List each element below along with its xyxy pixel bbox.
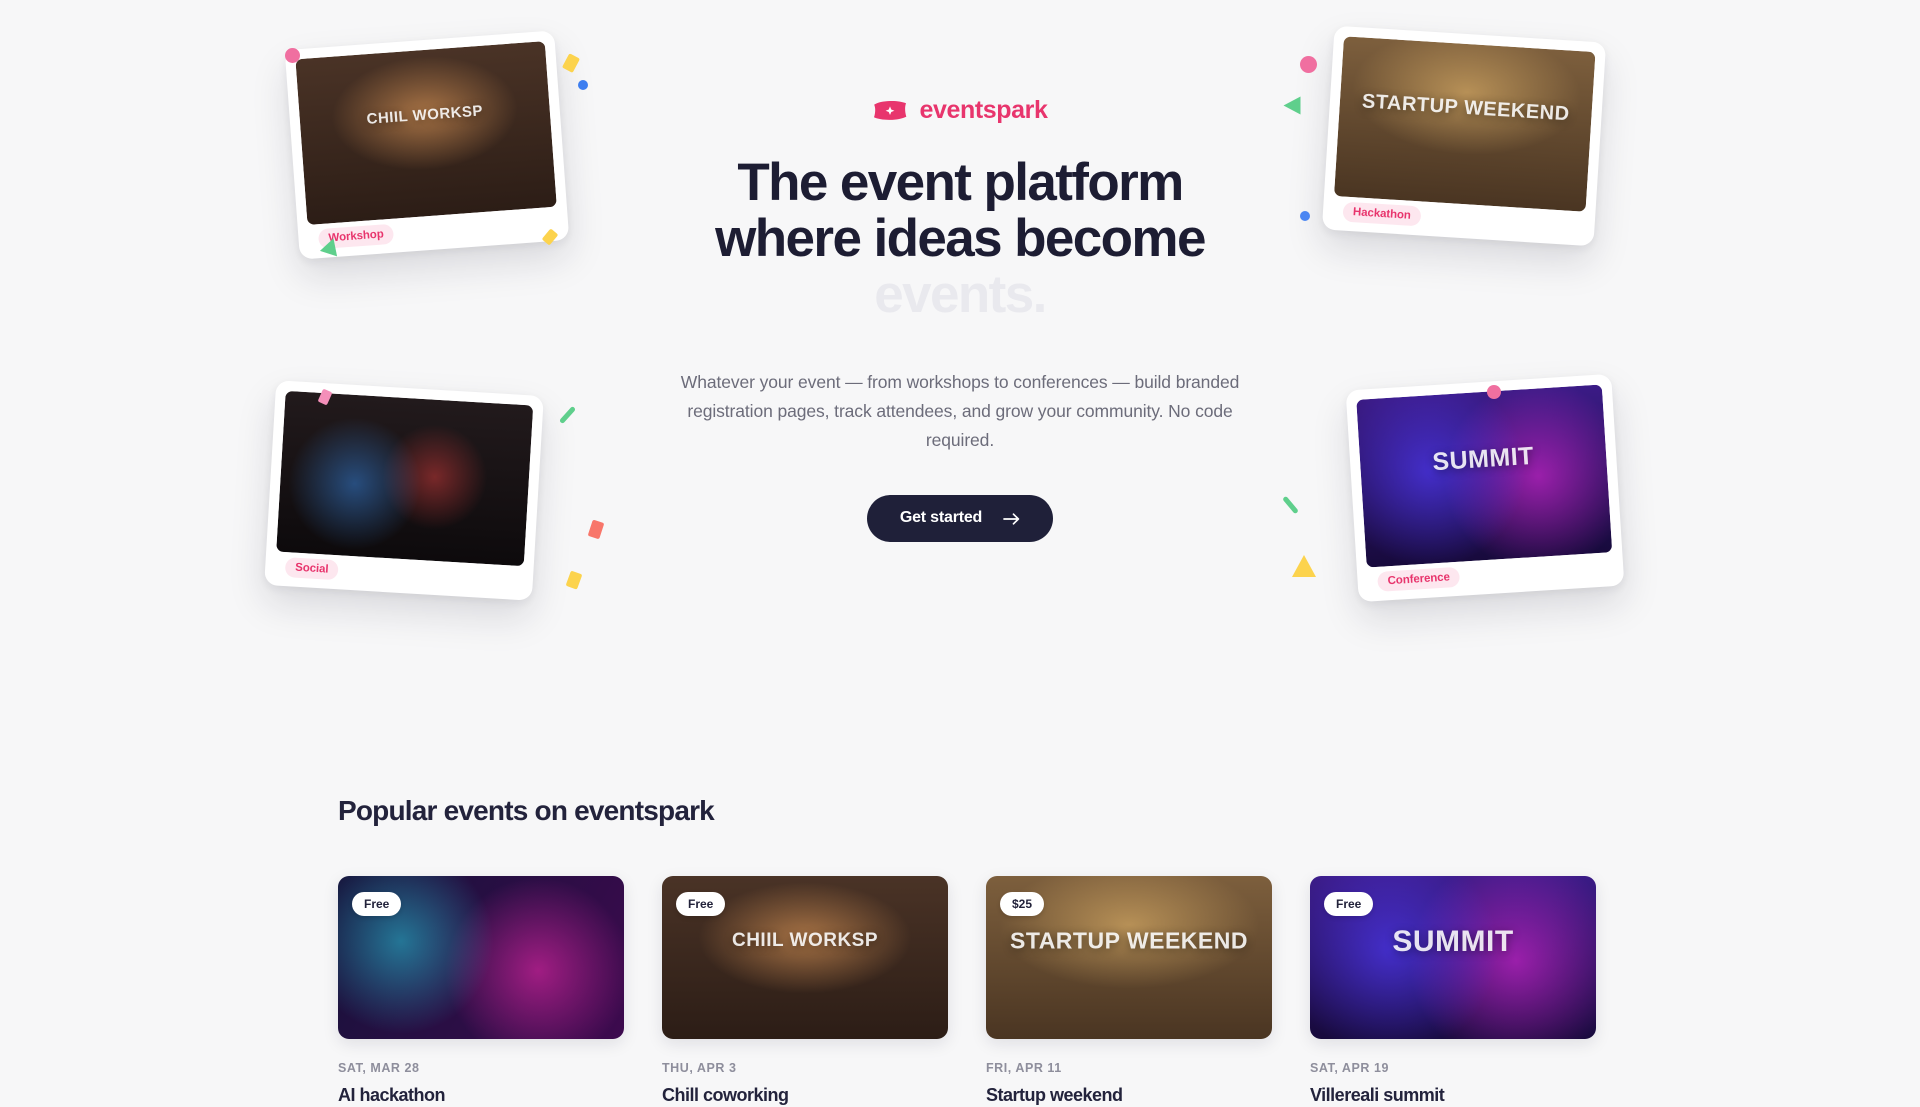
event-title: AI hackathon [338, 1084, 624, 1107]
bar-coral-mid [588, 520, 605, 540]
polaroid-tag-social: Social [285, 557, 339, 580]
popular-events-section: Popular events on eventspark FreeSAT, MA… [0, 745, 1920, 1107]
brand-name: eventspark [919, 96, 1047, 125]
arrow-right-icon [1003, 512, 1020, 524]
dot-pink-conf [1487, 385, 1501, 399]
dot-blue-left [578, 80, 588, 90]
polaroid-tag-hackathon: Hackathon [1342, 202, 1421, 227]
event-card[interactable]: FreeSAT, MAR 28AI hackathon [338, 876, 624, 1107]
polaroid-photo [276, 391, 533, 566]
event-title: Chill coworking [662, 1084, 948, 1107]
event-title: Startup weekend [986, 1084, 1272, 1107]
event-card-image: CHIIL WORKSPFree [662, 876, 948, 1039]
quad-yellow-left [562, 53, 580, 73]
event-card[interactable]: SUMMITFreeSAT, APR 19Villereali summit [1310, 876, 1596, 1107]
quad-yellow-mid [566, 571, 582, 590]
cta-container: Get started [680, 495, 1240, 542]
event-price-badge: Free [1324, 892, 1373, 916]
headline-line-1: The event platform [737, 153, 1182, 212]
event-card-list: FreeSAT, MAR 28AI hackathonCHIIL WORKSPF… [338, 876, 1583, 1107]
brand-logo[interactable]: eventspark [680, 96, 1240, 125]
event-card[interactable]: CHIIL WORKSPFreeTHU, APR 3Chill coworkin… [662, 876, 948, 1107]
event-price-badge: Free [676, 892, 725, 916]
polaroid-card-workshop: CHIIL WORKSP Workshop [285, 30, 570, 259]
hero-section: CHIIL WORKSP Workshop Social STARTUP WEE… [0, 0, 1920, 745]
triangle-yellow-right [1292, 555, 1316, 577]
event-title: Villereali summit [1310, 1084, 1596, 1107]
hero-subheadline: Whatever your event — from workshops to … [680, 368, 1240, 455]
polaroid-card-conference: SUMMIT Conference [1346, 374, 1625, 602]
dot-pink-left [285, 48, 300, 63]
event-card-image-text: SUMMIT [1310, 927, 1596, 957]
get-started-label: Get started [900, 509, 982, 527]
event-card-image: Free [338, 876, 624, 1039]
polaroid-photo-text: SUMMIT [1360, 439, 1607, 479]
headline-line-3-ghost: events. [874, 265, 1045, 324]
slash-green-mid [559, 406, 576, 424]
page-title: The event platform where ideas become ev… [680, 155, 1240, 324]
get-started-button[interactable]: Get started [867, 495, 1053, 542]
hero-content: eventspark The event platform where idea… [680, 96, 1240, 542]
dot-blue-right [1300, 211, 1310, 221]
polaroid-photo-text [282, 452, 530, 467]
event-date: FRI, APR 11 [986, 1061, 1272, 1075]
polaroid-photo-text: STARTUP WEEKEND [1339, 90, 1592, 126]
polaroid-photo: CHIIL WORKSP [295, 41, 556, 225]
event-card-image-text: CHIIL WORKSP [662, 931, 948, 950]
polaroid-card-hackathon: STARTUP WEEKEND Hackathon [1322, 26, 1606, 247]
event-card-image: STARTUP WEEKEND$25 [986, 876, 1272, 1039]
polaroid-photo: SUMMIT [1356, 384, 1612, 567]
event-date: SAT, APR 19 [1310, 1061, 1596, 1075]
event-card-image-text: STARTUP WEEKEND [986, 930, 1272, 953]
polaroid-tag-conference: Conference [1377, 567, 1460, 592]
headline-line-2: where ideas become [715, 209, 1205, 268]
dot-pink-right [1300, 56, 1317, 73]
polaroid-photo: STARTUP WEEKEND [1334, 36, 1596, 212]
event-price-badge: $25 [1000, 892, 1044, 916]
slash-green-right [1282, 496, 1299, 515]
event-price-badge: Free [352, 892, 401, 916]
event-card-image: SUMMITFree [1310, 876, 1596, 1039]
section-title-popular-events: Popular events on eventspark [338, 745, 1920, 827]
event-date: SAT, MAR 28 [338, 1061, 624, 1075]
polaroid-card-social: Social [264, 380, 544, 601]
triangle-green-right [1284, 97, 1301, 115]
ticket-sparkle-icon [872, 99, 908, 123]
polaroid-photo-text: CHIIL WORKSP [300, 99, 550, 132]
event-card[interactable]: STARTUP WEEKEND$25FRI, APR 11Startup wee… [986, 876, 1272, 1107]
event-date: THU, APR 3 [662, 1061, 948, 1075]
